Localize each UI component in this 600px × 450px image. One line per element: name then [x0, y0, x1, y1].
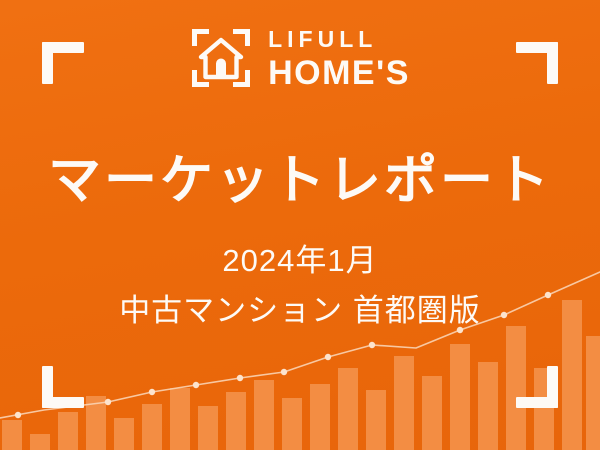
- report-segment: 中古マンション 首都圏版: [0, 294, 600, 328]
- corner-bracket-arm-vertical: [42, 366, 53, 408]
- corner-bracket-bottom-right: [516, 366, 558, 408]
- market-report-poster: LIFULL HOME'S マーケットレポート 2024年1月 中古マンション …: [0, 0, 600, 450]
- brand-logo-lockup: LIFULL HOME'S: [0, 26, 600, 90]
- brand-name-lifull: LIFULL: [268, 28, 410, 51]
- brand-name-homes: HOME'S: [268, 56, 410, 90]
- corner-bracket-bottom-left: [42, 366, 84, 408]
- report-period: 2024年1月: [0, 244, 600, 278]
- report-title: マーケットレポート: [0, 152, 600, 210]
- corner-bracket-arm-vertical: [547, 366, 558, 408]
- brand-wordmark: LIFULL HOME'S: [268, 26, 410, 90]
- headline-block: マーケットレポート 2024年1月 中古マンション 首都圏版: [0, 152, 600, 328]
- house-in-brackets-icon: [190, 27, 252, 89]
